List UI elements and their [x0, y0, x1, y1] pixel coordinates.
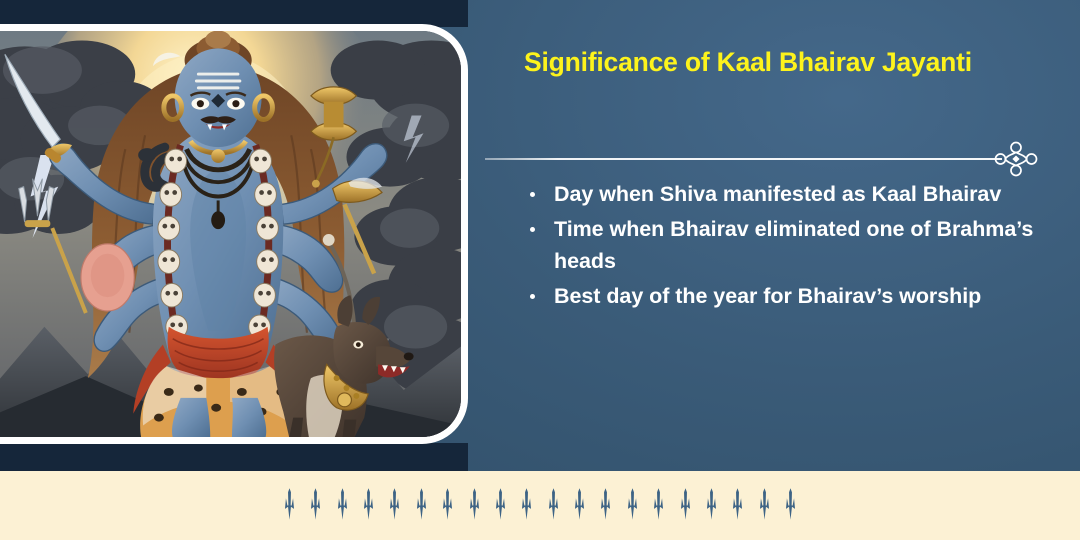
trident-icon — [279, 488, 300, 524]
list-item: Best day of the year for Bhairav’s worsh… — [518, 280, 1038, 313]
deity-image-card — [0, 24, 468, 444]
trident-icon — [490, 488, 511, 524]
trident-icon — [780, 488, 801, 524]
trident-icon — [332, 488, 353, 524]
trident-icon — [411, 488, 432, 524]
trident-icon — [648, 488, 669, 524]
bottom-navy-band — [0, 443, 468, 471]
trident-icon — [384, 488, 405, 524]
trident-icon — [754, 488, 775, 524]
trident-icon — [569, 488, 590, 524]
trident-icon — [437, 488, 458, 524]
page-title: Significance of Kaal Bhairav Jayanti — [524, 45, 994, 80]
trident-icon — [516, 488, 537, 524]
trident-icon — [622, 488, 643, 524]
top-navy-band — [0, 0, 468, 27]
bullet-list: Day when Shiva manifested as Kaal Bhaira… — [518, 178, 1038, 315]
trident-icon — [727, 488, 748, 524]
slide-root: Significance of Kaal Bhairav Jayanti Day — [0, 0, 1080, 540]
trident-icon — [305, 488, 326, 524]
trident-icon — [358, 488, 379, 524]
divider — [485, 141, 1060, 177]
list-item: Time when Bhairav eliminated one of Brah… — [518, 213, 1038, 278]
trident-divider-row — [279, 488, 801, 524]
trident-icon — [464, 488, 485, 524]
trident-icon — [595, 488, 616, 524]
list-item: Day when Shiva manifested as Kaal Bhaira… — [518, 178, 1038, 211]
trident-icon — [675, 488, 696, 524]
content-column: Significance of Kaal Bhairav Jayanti Day — [512, 0, 1080, 471]
kaal-bhairav-illustration — [0, 31, 461, 437]
footer-band — [0, 471, 1080, 540]
divider-line — [485, 158, 1002, 160]
trident-icon — [701, 488, 722, 524]
trident-icon — [543, 488, 564, 524]
quatrefoil-knot-ornament-icon — [993, 141, 1039, 177]
